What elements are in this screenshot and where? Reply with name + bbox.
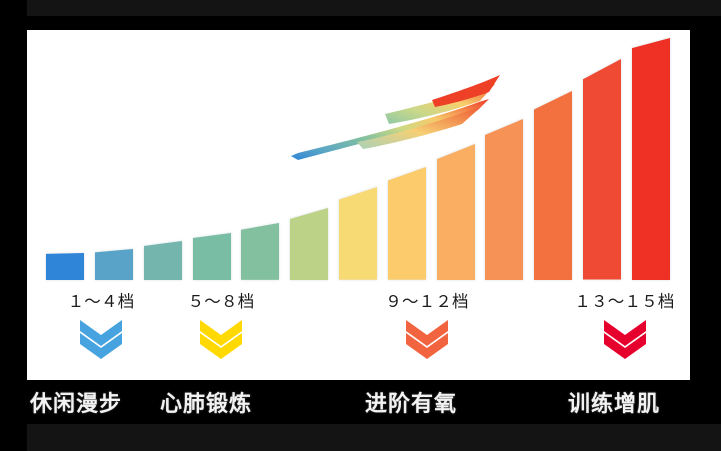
tier-3[interactable]: ９〜１２档 xyxy=(357,288,497,360)
chart-panel: １〜４档５〜８档９〜１２档１３〜１５档 xyxy=(27,30,690,380)
caption-2: 心肺锻炼 xyxy=(160,386,252,418)
bar-2 xyxy=(95,249,133,280)
bar-9 xyxy=(437,144,475,280)
bar-7 xyxy=(339,187,377,280)
bar-11 xyxy=(534,91,572,280)
tier-label: １〜４档 xyxy=(46,288,156,312)
bar-4 xyxy=(193,233,231,280)
screen-root: １〜４档５〜８档９〜１２档１３〜１５档 休闲漫步心肺锻炼进阶有氧训练增肌 xyxy=(0,0,721,451)
bar-chart xyxy=(27,30,690,280)
bar-8 xyxy=(388,167,426,280)
bar-6 xyxy=(290,208,328,280)
chevron-down-red-icon xyxy=(602,318,648,360)
caption-4: 训练增肌 xyxy=(568,386,660,418)
caption-3: 进阶有氧 xyxy=(365,386,457,418)
chevron-down-orange-icon xyxy=(404,318,450,360)
bottom-letterbox-band xyxy=(27,424,721,451)
bar-1 xyxy=(46,253,84,280)
caption-group: 休闲漫步心肺锻炼进阶有氧训练增肌 xyxy=(0,386,721,424)
tier-2[interactable]: ５〜８档 xyxy=(166,288,276,360)
tier-4[interactable]: １３〜１５档 xyxy=(547,288,690,360)
tier-label: １３〜１５档 xyxy=(547,288,690,312)
caption-1: 休闲漫步 xyxy=(30,386,122,418)
top-letterbox-band xyxy=(27,0,721,16)
chevron-down-yellow-icon xyxy=(198,318,244,360)
bar-10 xyxy=(485,119,523,280)
tier-label: ９〜１２档 xyxy=(357,288,497,312)
bar-13 xyxy=(632,38,670,280)
bar-5 xyxy=(241,223,279,280)
chevron-down-blue-icon xyxy=(78,318,124,360)
bar-3 xyxy=(144,241,182,280)
tier-1[interactable]: １〜４档 xyxy=(46,288,156,360)
bar-12 xyxy=(583,59,621,280)
tier-label: ５〜８档 xyxy=(166,288,276,312)
tier-label-group: １〜４档５〜８档９〜１２档１３〜１５档 xyxy=(27,288,690,380)
